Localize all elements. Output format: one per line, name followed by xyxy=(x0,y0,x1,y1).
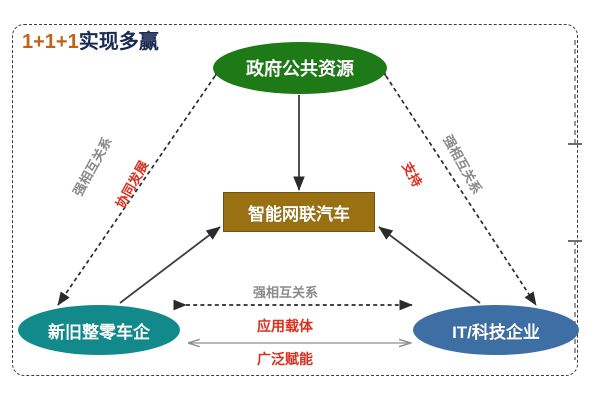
diagram-title: 1+1+1实现多赢 xyxy=(22,32,159,52)
bracket-tick-top xyxy=(568,143,582,145)
title-text: 实现多赢 xyxy=(79,31,159,53)
node-oem-label: 新旧整零车企 xyxy=(48,318,150,343)
node-intelligent-connected-vehicle[interactable]: 智能网联汽车 xyxy=(223,192,375,232)
node-it-technology-enterprises[interactable]: IT/科技企业 xyxy=(413,305,579,355)
node-old-new-vehicle-enterprises[interactable]: 新旧整零车企 xyxy=(18,305,180,355)
edge-it-center xyxy=(379,227,480,303)
edge-gov-it xyxy=(386,76,536,305)
node-government-label: 政府公共资源 xyxy=(246,55,354,81)
title-number: 1+1+1 xyxy=(22,31,79,53)
node-center-label: 智能网联汽车 xyxy=(248,200,350,225)
edge-label-bottom-application-carrier: 应用载体 xyxy=(257,319,313,333)
node-government-public-resources[interactable]: 政府公共资源 xyxy=(213,42,387,94)
node-it-label: IT/科技企业 xyxy=(452,318,540,343)
bracket-tick-bottom xyxy=(568,240,582,242)
diagram-canvas: 1+1+1实现多赢 政府公共资源 智能网联汽车 新旧整零车企 IT/科技企业 强… xyxy=(0,0,600,400)
edge-label-bottom-broad-empowerment: 广泛赋能 xyxy=(257,352,313,366)
edge-oem-center xyxy=(120,227,220,303)
edge-label-bottom-strong-relation: 强相互关系 xyxy=(253,286,318,299)
